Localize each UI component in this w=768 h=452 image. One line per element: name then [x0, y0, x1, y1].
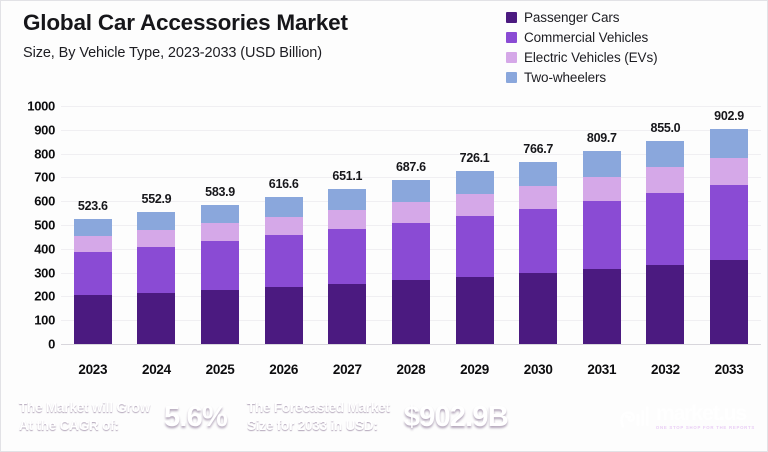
bar-group: 523.62023552.92024583.92025616.62026651.… [61, 93, 761, 385]
chart-header: Global Car Accessories Market Size, By V… [1, 1, 768, 93]
x-axis-tick-label: 2033 [701, 362, 757, 377]
page-subtitle: Size, By Vehicle Type, 2023-2033 (USD Bi… [23, 45, 322, 61]
forecast-caption: The Forecasted Market Size for 2033 in U… [247, 399, 390, 435]
cagr-caption: The Market will Grow At the CAGR of: [19, 399, 150, 435]
bar-segment[interactable] [710, 158, 748, 186]
forecast-caption-line1: The Forecasted Market [247, 400, 390, 415]
y-axis-tick-label: 0 [48, 337, 55, 352]
bar-total-label: 902.9 [701, 109, 757, 123]
brand-logo[interactable]: market.us one stop shop for the reports [620, 403, 755, 430]
page-title: Global Car Accessories Market [23, 10, 348, 36]
stacked-bar[interactable] [265, 197, 303, 344]
bar-segment[interactable] [583, 151, 621, 176]
bar-total-label: 651.1 [319, 169, 375, 183]
bar-segment[interactable] [137, 293, 175, 344]
bar-total-label: 809.7 [574, 131, 630, 145]
x-axis-tick-label: 2029 [447, 362, 503, 377]
y-axis-tick-label: 200 [34, 289, 55, 304]
bar-segment[interactable] [137, 212, 175, 229]
bar-segment[interactable] [201, 241, 239, 290]
bar-segment[interactable] [519, 186, 557, 209]
bar-total-label: 726.1 [447, 151, 503, 165]
y-axis-tick-label: 300 [34, 265, 55, 280]
square-swatch-icon [506, 32, 517, 43]
bar-column[interactable]: 726.12029 [447, 93, 503, 385]
bar-column[interactable]: 809.72031 [574, 93, 630, 385]
cagr-caption-line2: At the CAGR of: [19, 418, 119, 433]
bar-segment[interactable] [201, 290, 239, 344]
bar-total-label: 552.9 [128, 192, 184, 206]
bar-segment[interactable] [519, 209, 557, 273]
y-axis: 10009008007006005004003002001000 [1, 93, 61, 385]
bar-segment[interactable] [74, 252, 112, 296]
bar-segment[interactable] [328, 284, 366, 344]
square-swatch-icon [506, 52, 517, 63]
bar-segment[interactable] [265, 235, 303, 286]
bar-segment[interactable] [201, 205, 239, 223]
bar-segment[interactable] [710, 129, 748, 157]
legend-item[interactable]: Electric Vehicles (EVs) [506, 49, 658, 66]
stacked-bar[interactable] [74, 219, 112, 344]
cagr-caption-line1: The Market will Grow [19, 400, 150, 415]
logo-tagline: one stop shop for the reports [656, 426, 755, 430]
legend-item-label: Two-wheelers [524, 70, 606, 85]
y-axis-tick-label: 700 [34, 170, 55, 185]
stacked-bar[interactable] [201, 205, 239, 344]
x-axis-tick-label: 2026 [256, 362, 312, 377]
bar-segment[interactable] [392, 280, 430, 344]
x-axis-tick-label: 2031 [574, 362, 630, 377]
bar-column[interactable]: 687.62028 [383, 93, 439, 385]
legend-item-label: Electric Vehicles (EVs) [524, 50, 658, 65]
bar-segment[interactable] [265, 217, 303, 236]
stacked-bar[interactable] [137, 212, 175, 344]
bar-column[interactable]: 552.92024 [128, 93, 184, 385]
y-axis-tick-label: 100 [34, 313, 55, 328]
bar-segment[interactable] [646, 193, 684, 264]
y-axis-tick-label: 900 [34, 122, 55, 137]
bar-segment[interactable] [456, 277, 494, 344]
square-swatch-icon [506, 12, 517, 23]
bar-segment[interactable] [265, 287, 303, 344]
bar-total-label: 855.0 [637, 121, 693, 135]
bar-total-label: 687.6 [383, 160, 439, 174]
y-axis-tick-label: 600 [34, 194, 55, 209]
chart-infographic: Global Car Accessories Market Size, By V… [0, 0, 768, 452]
bar-column[interactable]: 583.92025 [192, 93, 248, 385]
forecast-caption-line2: Size for 2033 in USD: [247, 418, 378, 433]
y-axis-tick-label: 800 [34, 146, 55, 161]
bar-column[interactable]: 616.62026 [256, 93, 312, 385]
stacked-bar[interactable] [328, 189, 366, 344]
y-axis-tick-label: 400 [34, 241, 55, 256]
bar-segment[interactable] [265, 197, 303, 216]
bar-segment[interactable] [137, 230, 175, 247]
legend-item[interactable]: Passenger Cars [506, 9, 658, 26]
summary-footer: The Market will Grow At the CAGR of: 5.6… [1, 383, 768, 451]
bar-segment[interactable] [456, 216, 494, 276]
bar-segment[interactable] [710, 260, 748, 344]
legend-item-label: Commercial Vehicles [524, 30, 648, 45]
bar-segment[interactable] [201, 223, 239, 241]
bar-column[interactable]: 766.72030 [510, 93, 566, 385]
bar-segment[interactable] [519, 162, 557, 186]
bar-segment[interactable] [646, 167, 684, 193]
x-axis-tick-label: 2024 [128, 362, 184, 377]
bar-segment[interactable] [328, 189, 366, 209]
bar-segment[interactable] [137, 247, 175, 293]
market-us-bars-icon [620, 405, 650, 429]
forecast-value: $902.9B [404, 401, 508, 434]
bar-segment[interactable] [519, 273, 557, 344]
bar-total-label: 523.6 [65, 199, 121, 213]
bar-segment[interactable] [74, 295, 112, 344]
x-axis-tick-label: 2032 [637, 362, 693, 377]
stacked-bar[interactable] [710, 129, 748, 344]
stacked-bar[interactable] [519, 162, 557, 344]
bar-segment[interactable] [583, 177, 621, 202]
stacked-bar[interactable] [646, 141, 684, 344]
x-axis-tick-label: 2028 [383, 362, 439, 377]
bar-column[interactable]: 651.12027 [319, 93, 375, 385]
bar-segment[interactable] [74, 236, 112, 252]
bar-column[interactable]: 902.92033 [701, 93, 757, 385]
y-axis-tick-label: 500 [34, 218, 55, 233]
bar-segment[interactable] [646, 265, 684, 344]
bar-column[interactable]: 523.62023 [65, 93, 121, 385]
bar-segment[interactable] [328, 229, 366, 283]
bar-segment[interactable] [583, 201, 621, 268]
x-axis-tick-label: 2023 [65, 362, 121, 377]
bar-total-label: 766.7 [510, 142, 566, 156]
bar-segment[interactable] [583, 269, 621, 344]
bar-segment[interactable] [392, 202, 430, 223]
square-swatch-icon [506, 72, 517, 83]
bar-segment[interactable] [328, 210, 366, 230]
bar-segment[interactable] [456, 171, 494, 194]
bar-total-label: 616.6 [256, 177, 312, 191]
x-axis-tick-label: 2025 [192, 362, 248, 377]
bar-segment[interactable] [456, 194, 494, 216]
y-axis-tick-label: 1000 [27, 99, 55, 114]
x-axis-tick-label: 2030 [510, 362, 566, 377]
bar-segment[interactable] [392, 223, 430, 280]
legend-item-label: Passenger Cars [524, 10, 619, 25]
legend-item[interactable]: Commercial Vehicles [506, 29, 658, 46]
legend-item[interactable]: Two-wheelers [506, 69, 658, 86]
cagr-value: 5.6% [164, 401, 227, 434]
stacked-bar[interactable] [456, 171, 494, 344]
stacked-bar[interactable] [392, 180, 430, 344]
bar-segment[interactable] [392, 180, 430, 202]
stacked-bar[interactable] [583, 151, 621, 344]
logo-wordmark: market.us [656, 403, 755, 424]
bar-column[interactable]: 855.02032 [637, 93, 693, 385]
bar-segment[interactable] [646, 141, 684, 168]
chart-plot-area: 10009008007006005004003002001000 523.620… [1, 93, 768, 385]
bar-total-label: 583.9 [192, 185, 248, 199]
chart-legend: Passenger CarsCommercial VehiclesElectri… [506, 9, 658, 86]
bar-segment[interactable] [74, 219, 112, 235]
bar-segment[interactable] [710, 185, 748, 260]
x-axis-tick-label: 2027 [319, 362, 375, 377]
